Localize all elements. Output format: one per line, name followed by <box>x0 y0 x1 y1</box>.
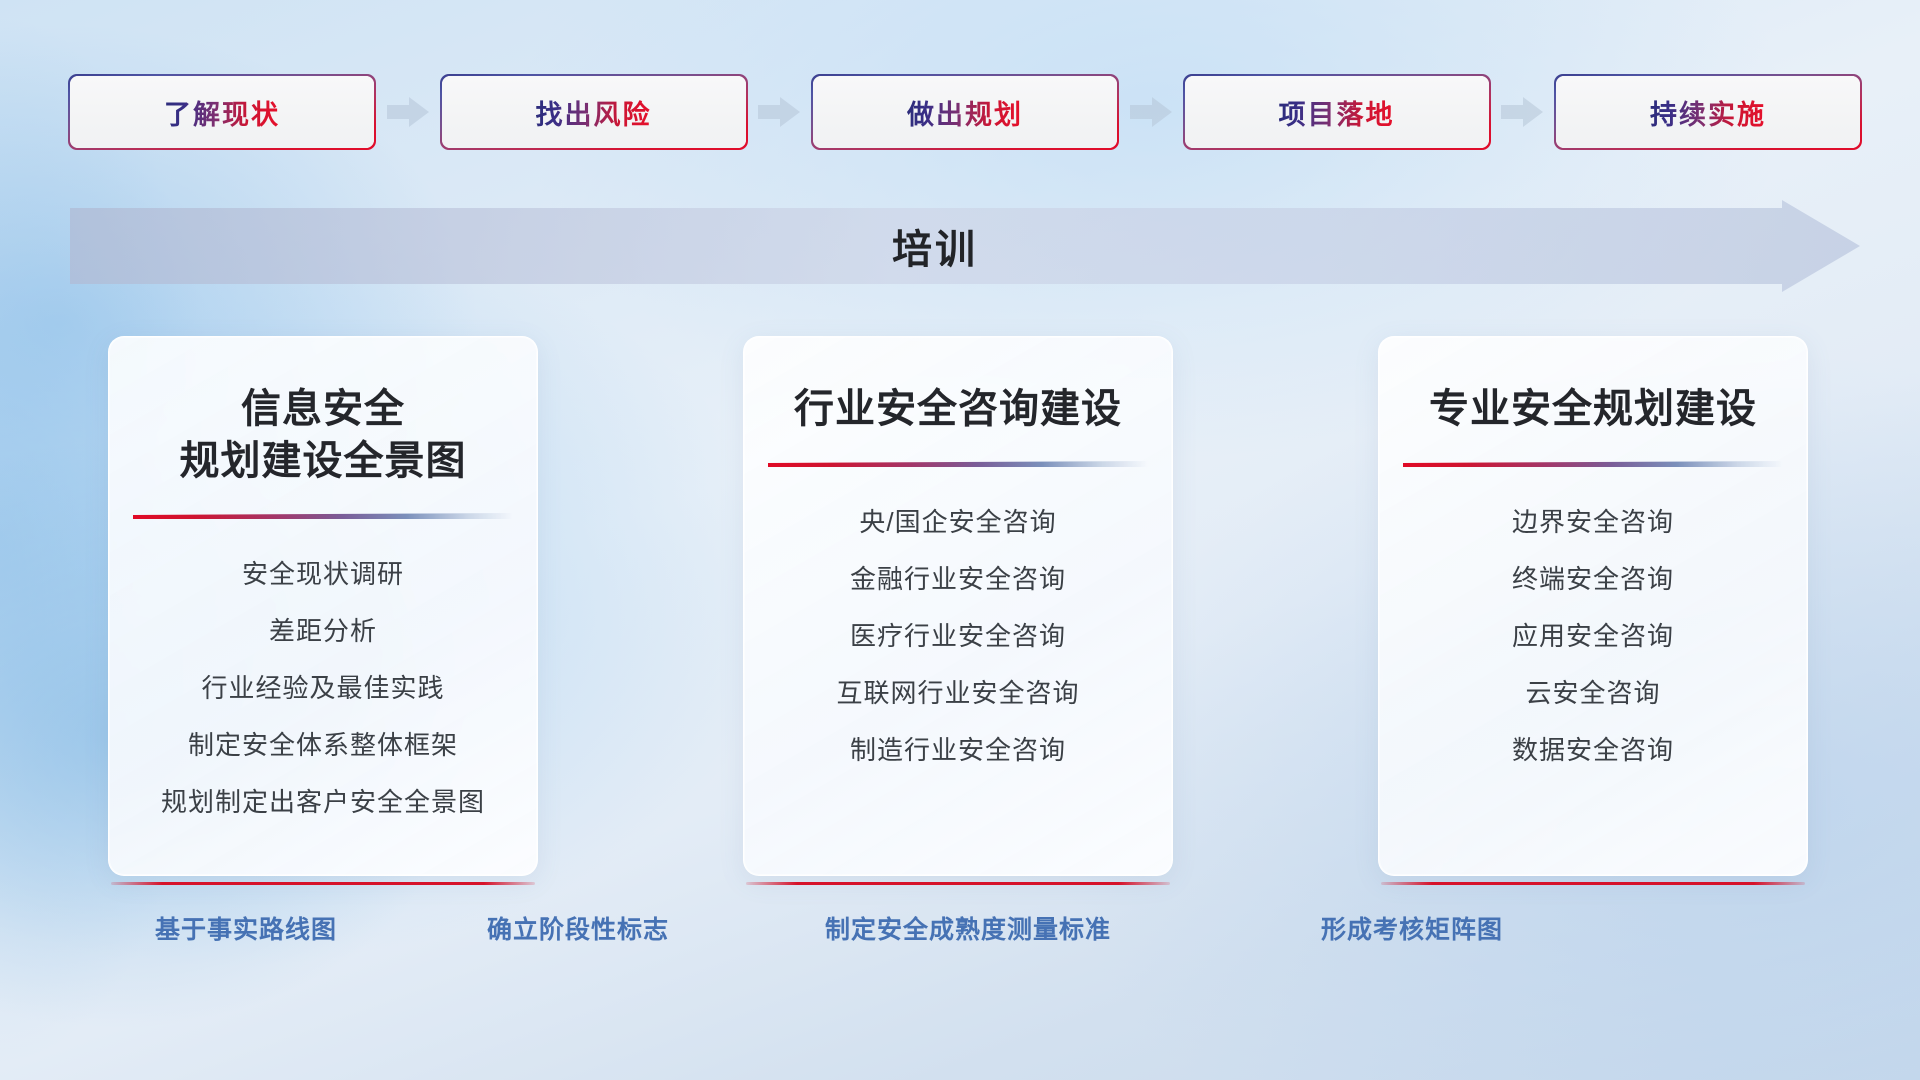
card-item-list: 安全现状调研 差距分析 行业经验及最佳实践 制定安全体系整体框架 规划制定出客户… <box>137 551 509 836</box>
step-chip-2[interactable]: 找出风险 <box>442 76 746 148</box>
card-title-line: 规划建设全景图 <box>180 435 467 487</box>
card-information-security-panorama[interactable]: 信息安全 规划建设全景图 安全现状调研 差距分析 行业经验及最佳实践 制定安全体… <box>108 336 538 876</box>
list-item: 制定安全体系整体框架 <box>137 722 509 768</box>
arrow-right-icon <box>758 95 800 129</box>
list-item: 医疗行业安全咨询 <box>772 613 1144 659</box>
process-step-row: 了解现状 找出风险 做出规划 项目落地 持续实施 <box>70 76 1860 148</box>
card-group: 信息安全 规划建设全景图 安全现状调研 差距分析 行业经验及最佳实践 制定安全体… <box>108 336 1808 892</box>
footer-label-roadmap: 基于事实路线图 <box>155 910 337 946</box>
card-professional-security-planning[interactable]: 专业安全规划建设 边界安全咨询 终端安全咨询 应用安全咨询 云安全咨询 数据安全… <box>1378 336 1808 876</box>
list-item: 制造行业安全咨询 <box>772 727 1144 773</box>
card-industry-security-consulting[interactable]: 行业安全咨询建设 央/国企安全咨询 金融行业安全咨询 医疗行业安全咨询 互联网行… <box>743 336 1173 876</box>
list-item: 行业经验及最佳实践 <box>137 665 509 711</box>
card-title: 行业安全咨询建设 <box>794 383 1122 435</box>
card-divider <box>133 513 513 521</box>
list-item: 互联网行业安全咨询 <box>772 670 1144 716</box>
card-title-line: 信息安全 <box>180 383 467 435</box>
card-title: 专业安全规划建设 <box>1429 383 1757 435</box>
list-item: 金融行业安全咨询 <box>772 556 1144 602</box>
footer-label-assessment-matrix: 形成考核矩阵图 <box>1321 910 1503 946</box>
step-chip-1[interactable]: 了解现状 <box>70 76 374 148</box>
card-divider <box>1403 461 1783 469</box>
arrow-right-icon <box>1501 95 1543 129</box>
list-item: 终端安全咨询 <box>1407 556 1779 602</box>
list-item: 边界安全咨询 <box>1407 499 1779 545</box>
list-item: 数据安全咨询 <box>1407 727 1779 773</box>
training-banner: 培训 <box>70 200 1860 292</box>
step-chip-3[interactable]: 做出规划 <box>813 76 1117 148</box>
list-item: 应用安全咨询 <box>1407 613 1779 659</box>
footer-label-milestones: 确立阶段性标志 <box>487 910 669 946</box>
card-underline <box>1381 882 1805 885</box>
step-chip-4[interactable]: 项目落地 <box>1185 76 1489 148</box>
slide-canvas: 了解现状 找出风险 做出规划 项目落地 持续实施 <box>0 0 1920 1080</box>
step-label: 做出规划 <box>907 93 1023 132</box>
card-title-line: 专业安全规划建设 <box>1429 383 1757 435</box>
arrow-right-icon <box>1130 95 1172 129</box>
list-item: 差距分析 <box>137 608 509 654</box>
card-divider <box>768 461 1148 469</box>
step-label: 持续实施 <box>1650 93 1766 132</box>
step-chip-5[interactable]: 持续实施 <box>1556 76 1860 148</box>
step-label: 了解现状 <box>164 93 280 132</box>
card-underline <box>111 882 535 885</box>
card-item-list: 央/国企安全咨询 金融行业安全咨询 医疗行业安全咨询 互联网行业安全咨询 制造行… <box>772 499 1144 784</box>
card-item-list: 边界安全咨询 终端安全咨询 应用安全咨询 云安全咨询 数据安全咨询 <box>1407 499 1779 784</box>
footer-label-row: 基于事实路线图 确立阶段性标志 制定安全成熟度测量标准 形成考核矩阵图 <box>0 910 1920 954</box>
step-label: 项目落地 <box>1279 93 1395 132</box>
footer-label-maturity-standard: 制定安全成熟度测量标准 <box>825 910 1111 946</box>
list-item: 安全现状调研 <box>137 551 509 597</box>
arrow-right-icon <box>387 95 429 129</box>
list-item: 云安全咨询 <box>1407 670 1779 716</box>
list-item: 规划制定出客户安全全景图 <box>137 779 509 825</box>
card-title: 信息安全 规划建设全景图 <box>180 383 467 487</box>
list-item: 央/国企安全咨询 <box>772 499 1144 545</box>
card-title-line: 行业安全咨询建设 <box>794 383 1122 435</box>
banner-label: 培训 <box>70 200 1860 292</box>
card-underline <box>746 882 1170 885</box>
step-label: 找出风险 <box>536 93 652 132</box>
